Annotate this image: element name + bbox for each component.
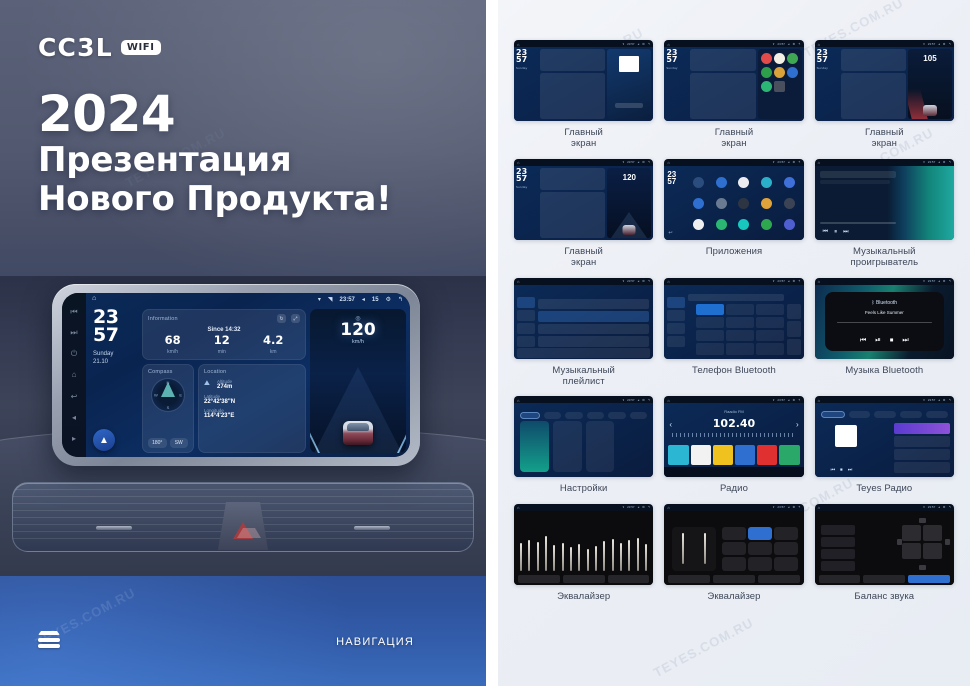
option-item[interactable] (821, 549, 855, 559)
volume-icon: ◂ (638, 279, 640, 283)
app-icon[interactable] (761, 67, 772, 78)
key-5[interactable] (726, 317, 754, 329)
playback-controls[interactable]: ⏮⏹⏭ (831, 467, 853, 473)
gallery-item[interactable]: ⏮⏸⏭ ⌂ ▾23:57◂⚙↰ Музыкальныйпроигрыватель (815, 159, 954, 269)
back-arrow-icon: ↰ (948, 279, 951, 283)
bt-label: Bluetooth (876, 300, 897, 306)
home-icon[interactable]: ⌂ (92, 295, 96, 302)
status-time: 23:57 (627, 279, 635, 283)
eq-tab[interactable] (713, 575, 755, 583)
gear-icon: ⚙ (792, 42, 795, 46)
gallery-item[interactable]: ⌂ ▾23:57◂⚙↰ Настройки (514, 396, 653, 494)
status-time: 23:57 (928, 279, 936, 283)
next-track-button[interactable]: ⏭ (70, 328, 79, 337)
gear-icon: ⚙ (943, 42, 946, 46)
expand-icon[interactable]: ⤢ (291, 314, 300, 323)
phone-actions[interactable] (787, 304, 801, 355)
thumbnail-caption: Музыка Bluetooth (845, 365, 923, 376)
stat-value: 4.2 (263, 335, 283, 347)
thumbnail-bt-phone[interactable]: ⌂ ▾23:57◂⚙↰ (664, 278, 803, 359)
key-4[interactable] (696, 317, 724, 329)
app-icon[interactable] (693, 198, 704, 209)
dial-pad[interactable] (696, 304, 783, 355)
back-arrow-icon: ↰ (648, 505, 651, 509)
eq-slider[interactable] (637, 538, 639, 571)
sidebar-item[interactable] (667, 336, 685, 347)
app-icon[interactable] (738, 219, 749, 230)
phone-number-field[interactable] (688, 294, 783, 301)
app-icon[interactable] (761, 177, 772, 188)
volume-down-button[interactable]: ◂ (70, 413, 79, 422)
tab-sound[interactable] (544, 412, 562, 419)
preset-button[interactable] (774, 542, 798, 555)
settings-cards[interactable] (520, 421, 647, 472)
equalizer-toolbar[interactable] (668, 575, 799, 583)
tab-system[interactable] (630, 412, 648, 419)
home-button[interactable]: ⌂ (70, 370, 79, 379)
app-icon[interactable] (761, 219, 772, 230)
app-icon[interactable] (716, 219, 727, 230)
app-icon[interactable] (784, 219, 795, 230)
back-arrow-icon[interactable]: ↰ (398, 296, 403, 303)
list-item[interactable] (894, 423, 950, 434)
gear-icon: ⚙ (642, 42, 645, 46)
thumbnail-home-speed[interactable]: 2357Sunday 105 ⌂ ▾23:57◂⚙↰ (815, 40, 954, 121)
navigation-arrow-icon[interactable]: ▲ (93, 429, 115, 451)
caption-line-1: Баланс звука (854, 591, 914, 602)
balance-toolbar[interactable] (819, 575, 950, 583)
station-presets[interactable] (668, 445, 799, 465)
wifi-icon: ▾ (923, 398, 925, 402)
key-hash[interactable] (756, 343, 784, 355)
tab-item[interactable] (849, 411, 871, 418)
app-icon[interactable] (787, 67, 798, 78)
eq-slider[interactable] (520, 543, 522, 570)
gallery-item[interactable]: ᛒ Bluetooth Feels Like Summer ⏮⏯⏹⏭ ⌂ ▾23… (815, 278, 954, 388)
previous-icon[interactable]: ⏮ (823, 229, 828, 236)
sidebar-item[interactable] (517, 323, 535, 334)
gear-icon: ⚙ (642, 505, 645, 509)
progress-bar[interactable] (837, 322, 932, 324)
fader-group[interactable] (672, 527, 716, 571)
gallery-item[interactable]: ⏮⏹⏭ ⌂ ▾23:57◂⚙↰ Teyes Радио (815, 396, 954, 494)
eq-tab[interactable] (819, 575, 861, 583)
equalizer-sliders[interactable] (520, 527, 647, 571)
thumbnail-playlist[interactable]: ⌂ ▾23:57◂⚙↰ (514, 278, 653, 359)
preset-button[interactable] (774, 557, 798, 570)
preset-station[interactable] (779, 445, 799, 465)
gallery-item[interactable]: 2357Sunday 120 ⌂ ▾23:57◂⚙↰ (514, 159, 653, 269)
key-2[interactable] (726, 304, 754, 316)
eq-tab[interactable] (563, 575, 605, 583)
next-icon[interactable]: ⏭ (848, 467, 853, 473)
eq-slider[interactable] (578, 544, 580, 570)
preset-button[interactable] (748, 557, 772, 570)
status-time: 23:57 (627, 160, 635, 164)
balance-right-button[interactable] (945, 539, 950, 545)
seat-front-left[interactable] (902, 525, 921, 541)
tab-item[interactable] (874, 411, 896, 418)
thumb-status-bar: ▾23:57◂⚙↰ (664, 504, 803, 511)
key-3[interactable] (756, 304, 784, 316)
eq-slider[interactable] (645, 544, 647, 571)
stop-icon[interactable]: ⏹ (890, 337, 894, 345)
radio-band: Raadio FM (664, 409, 803, 414)
eq-slider[interactable] (528, 540, 530, 571)
key-9[interactable] (756, 330, 784, 342)
gear-icon: ⚙ (792, 160, 795, 164)
thumbnail-home-hud[interactable]: 2357Sunday 120 ⌂ ▾23:57◂⚙↰ (514, 159, 653, 240)
thumbnail-home-apps[interactable]: 2357Sunday (664, 40, 803, 121)
headline-line-1: Презентация (38, 141, 391, 180)
balance-up-button[interactable] (919, 518, 926, 523)
thumbnail-teyes-radio[interactable]: ⏮⏹⏭ ⌂ ▾23:57◂⚙↰ (815, 396, 954, 477)
option-item[interactable] (821, 561, 855, 571)
wifi-icon: ▾ (623, 398, 625, 402)
eq-tab[interactable] (668, 575, 710, 583)
status-time: 23:57 (928, 398, 936, 402)
speed-value: 120 (607, 173, 651, 182)
hazard-button[interactable] (218, 502, 268, 550)
balance-options[interactable] (821, 525, 855, 571)
tab-item[interactable] (821, 411, 845, 418)
thumbnail-music-player[interactable]: ⏮⏸⏭ ⌂ ▾23:57◂⚙↰ (815, 159, 954, 240)
media-controls[interactable] (615, 103, 643, 108)
gallery-item[interactable]: 2357Sunday ⌂ ▾23:57◂⚙↰ Главныйэкран (514, 40, 653, 150)
thumbnail-radio[interactable]: Raadio FM 102.40 ‹ › (664, 396, 803, 477)
altitude-label: Altitude (217, 379, 232, 384)
balance-left-button[interactable] (897, 539, 902, 545)
settings-tabs[interactable] (520, 412, 647, 419)
thumbnail-caption: Баланс звука (854, 591, 914, 602)
option-item[interactable] (821, 537, 855, 547)
thumbnail-bt-music[interactable]: ᛒ Bluetooth Feels Like Summer ⏮⏯⏹⏭ ⌂ ▾23… (815, 278, 954, 359)
app-icon[interactable] (761, 81, 772, 92)
wifi-icon: ▾ (923, 160, 925, 164)
sidebar-item[interactable] (667, 297, 685, 308)
thumb-media-card (607, 49, 651, 119)
panel-divider (486, 0, 498, 686)
eq-tab[interactable] (608, 575, 650, 583)
back-button[interactable]: ↩ (70, 392, 79, 401)
tab-apps[interactable] (587, 412, 605, 419)
caption-line-1: Эквалайзер (557, 591, 610, 602)
gallery-item[interactable]: ⌂ ▾23:57◂⚙↰ Эквалайзер (514, 504, 653, 602)
sidebar-item[interactable] (517, 310, 535, 321)
key-star[interactable] (696, 343, 724, 355)
altitude-value: 274m (217, 384, 232, 390)
teyes-tabs[interactable] (821, 411, 948, 418)
eq-slider[interactable] (587, 549, 589, 571)
sidebar-item[interactable] (667, 310, 685, 321)
eq-slider[interactable] (603, 541, 605, 571)
thumbnail-equalizer-bars[interactable]: ⌂ ▾23:57◂⚙↰ (514, 504, 653, 585)
gallery-item[interactable]: ⌂ ▾23:57◂⚙↰ Музыкальныйплейлист (514, 278, 653, 388)
eq-slider[interactable] (570, 547, 572, 571)
empty-card (618, 421, 647, 472)
app-icon[interactable] (716, 177, 727, 188)
speed-value: 120 (310, 322, 406, 339)
back-arrow-icon: ↰ (798, 42, 801, 46)
sidebar-item[interactable] (517, 297, 535, 308)
fader-slider[interactable] (704, 533, 706, 564)
volume-icon: ◂ (788, 398, 790, 402)
compass-widget[interactable]: Compass N S W E (142, 364, 194, 454)
prev-station-button[interactable]: ‹ (669, 420, 672, 429)
watermark: TEYES.COM.RU (651, 615, 756, 680)
sidebar-item[interactable] (667, 323, 685, 334)
wifi-icon: ▾ (923, 279, 925, 283)
hardware-button-rail[interactable]: ⏮ ⏭ ⏻ ⌂ ↩ ◂ ▸ (62, 293, 86, 457)
status-time: 23:57 (777, 42, 785, 46)
compass-west: W (154, 392, 158, 397)
thumb-status-bar: ▾23:57◂⚙↰ (815, 504, 954, 511)
eq-tab[interactable] (863, 575, 905, 583)
thumb-status-bar: ▾23:57◂⚙↰ (664, 278, 803, 285)
eq-tab[interactable] (518, 575, 560, 583)
playback-controls[interactable]: ⏮⏸⏭ (823, 229, 849, 236)
wifi-icon: ▾ (623, 42, 625, 46)
gallery-item[interactable]: ⌂ ▾23:57◂⚙↰ Эквалайзер (664, 504, 803, 602)
preset-station[interactable] (757, 445, 777, 465)
gear-icon: ⚙ (642, 398, 645, 402)
list-item[interactable] (538, 311, 649, 322)
thumb-compass-card (540, 192, 605, 238)
phone-sidebar[interactable] (667, 297, 685, 347)
option-item[interactable] (821, 525, 855, 535)
thumb-status-bar: ▾23:57◂⚙↰ (664, 159, 803, 166)
app-icon[interactable] (693, 177, 704, 188)
car-model-3d (923, 105, 937, 116)
gear-icon: ⚙ (943, 160, 946, 164)
widgets-row-2: Compass N S W E (142, 364, 306, 454)
tab-display[interactable] (565, 412, 583, 419)
previous-icon[interactable]: ⏮ (860, 337, 866, 345)
thumb-status-bar: ▾23:57◂⚙↰ (815, 278, 954, 285)
gallery-item[interactable]: 2357 (664, 159, 803, 269)
list-item[interactable] (894, 462, 950, 473)
thumbnail-home-media[interactable]: 2357Sunday ⌂ ▾23:57◂⚙↰ (514, 40, 653, 121)
app-icon[interactable] (738, 177, 749, 188)
preset-station[interactable] (713, 445, 733, 465)
seat-rear-left[interactable] (902, 543, 921, 559)
eq-slider[interactable] (612, 539, 614, 571)
album-art (835, 425, 857, 447)
thumb-status-bar: ▾23:57◂⚙↰ (664, 40, 803, 47)
volume-icon: ◂ (638, 160, 640, 164)
head-unit-screen[interactable]: ⌂ ▾ ◥ 23:57 ◂ 15 ⚙ ↰ 23 (86, 293, 410, 457)
gallery-item[interactable]: ⌂ ▾23:57◂⚙↰ Телефон Bluetooth (664, 278, 803, 388)
progress-bar[interactable] (820, 222, 896, 224)
hud-panel[interactable]: ◎ 120 km/h (310, 309, 406, 453)
preset-button[interactable] (774, 527, 798, 540)
bluetooth-icon: ᛒ Bluetooth (825, 300, 944, 306)
balance-down-button[interactable] (919, 565, 926, 570)
key-0[interactable] (726, 343, 754, 355)
preset-station[interactable] (735, 445, 755, 465)
tab-item[interactable] (926, 411, 948, 418)
back-arrow-icon: ↰ (948, 42, 951, 46)
eq-slider[interactable] (595, 546, 597, 571)
app-icon[interactable] (774, 81, 785, 92)
prev-track-button[interactable]: ⏮ (70, 307, 79, 316)
air-vent-left (96, 526, 132, 530)
back-arrow-icon: ↰ (648, 42, 651, 46)
key-8[interactable] (726, 330, 754, 342)
power-button[interactable]: ⏻ (70, 349, 79, 358)
key-6[interactable] (756, 317, 784, 329)
thumb-compass-card (540, 73, 605, 119)
app-icon[interactable] (716, 198, 727, 209)
app-icon[interactable] (774, 53, 785, 64)
volume-icon: ◂ (638, 398, 640, 402)
gallery-item[interactable]: 2357Sunday (664, 40, 803, 150)
volume-icon[interactable]: ◂ (362, 296, 365, 303)
longitude-value: 114°4'23"E (204, 413, 300, 419)
music-player-screen: ⏮⏸⏭ (815, 166, 954, 240)
key-7[interactable] (696, 330, 724, 342)
playlist-screen (514, 285, 653, 359)
clock-minutes: 57 (90, 327, 138, 345)
wifi-card[interactable] (520, 421, 549, 472)
seat-rear-right[interactable] (923, 543, 942, 559)
sidebar-item[interactable] (517, 336, 535, 347)
playlist-rows[interactable] (538, 299, 649, 347)
eq-slider[interactable] (545, 536, 547, 570)
stop-icon[interactable]: ⏹ (840, 467, 843, 473)
preset-station[interactable] (691, 445, 711, 465)
caption-line-1: Радио (720, 483, 748, 494)
backspace-icon[interactable] (787, 321, 801, 337)
clock-day: Sunday (90, 350, 138, 358)
compass-heading: 180° (148, 438, 167, 448)
app-icon[interactable] (693, 219, 704, 230)
status-time: 23:57 (777, 505, 785, 509)
eq-slider[interactable] (537, 542, 539, 571)
preset-station[interactable] (668, 445, 688, 465)
app-icon[interactable] (784, 177, 795, 188)
tab-item[interactable] (900, 411, 922, 418)
back-arrow-icon[interactable]: ↩ (668, 230, 672, 236)
preset-button[interactable] (722, 542, 746, 555)
preset-button-active[interactable] (748, 527, 772, 540)
hotspot-card[interactable] (553, 421, 582, 472)
track-title (820, 171, 896, 178)
eq-slider[interactable] (562, 543, 564, 571)
teyes-track-list[interactable] (894, 423, 950, 473)
speed-unit: km/h (310, 339, 406, 345)
air-vent-right (354, 526, 390, 530)
equalizer-toolbar[interactable] (518, 575, 649, 583)
mini-player-bar[interactable] (517, 348, 650, 358)
app-icon[interactable] (787, 53, 798, 64)
next-icon[interactable]: ⏭ (902, 337, 908, 345)
wifi-icon: ▾ (773, 398, 775, 402)
favorite-icon[interactable] (787, 304, 801, 320)
volume-icon: ◂ (788, 505, 790, 509)
app-icon[interactable] (761, 198, 772, 209)
app-icon[interactable] (774, 67, 785, 78)
app-icon[interactable] (761, 53, 772, 64)
eq-slider[interactable] (553, 545, 555, 571)
seat-front-right[interactable] (923, 525, 942, 541)
apps-screen: 2357 (664, 166, 803, 240)
wifi-icon: ▾ (623, 160, 625, 164)
playback-controls[interactable]: ⏮⏯⏹⏭ (825, 337, 944, 345)
tab-wifi[interactable] (520, 412, 540, 419)
gear-icon[interactable]: ⚙ (386, 296, 391, 303)
settings-screen (514, 403, 653, 477)
widgets-column: Information ↻ ⤢ Since 14:32 (142, 309, 306, 453)
preset-button[interactable] (748, 542, 772, 555)
frequency-scale[interactable] (672, 433, 795, 437)
pause-icon[interactable]: ⏸ (834, 229, 837, 236)
volume-icon: ◂ (938, 505, 940, 509)
list-item[interactable] (538, 299, 649, 310)
status-time: 23:57 (928, 160, 936, 164)
refresh-icon[interactable]: ↻ (277, 314, 286, 323)
thumbnail-apps[interactable]: 2357 (664, 159, 803, 240)
compass-south: S (167, 405, 170, 410)
gallery-item[interactable]: ⌂ ▾23:57◂⚙↰ Баланс звука (815, 504, 954, 602)
list-item[interactable] (538, 324, 649, 335)
next-station-button[interactable]: › (796, 420, 799, 429)
previous-icon[interactable]: ⏮ (831, 467, 836, 473)
tab-general[interactable] (608, 412, 626, 419)
preset-grid[interactable] (722, 527, 797, 571)
app-icon[interactable] (738, 198, 749, 209)
eq-slider[interactable] (620, 543, 622, 571)
information-widget[interactable]: Information ↻ ⤢ Since 14:32 (142, 309, 306, 360)
thumb-status-bar: ▾23:57◂⚙↰ (664, 396, 803, 403)
list-item[interactable] (894, 436, 950, 447)
gear-icon: ⚙ (792, 279, 795, 283)
next-icon[interactable]: ⏭ (843, 229, 848, 236)
preset-button[interactable] (722, 527, 746, 540)
compass-dial: N S W E (151, 378, 185, 412)
status-time: 23:57 (777, 398, 785, 402)
eq-tab[interactable] (758, 575, 800, 583)
caption-line-1: Главный (865, 127, 904, 138)
list-item[interactable] (894, 449, 950, 460)
preset-button[interactable] (722, 557, 746, 570)
play-pause-icon[interactable]: ⏯ (875, 337, 881, 345)
thumb-info-card (540, 49, 605, 71)
screenshot-gallery: TEYES.COM.RU TEYES.COM.RU TEYES.COM.RU T… (498, 0, 970, 686)
more-card[interactable] (586, 421, 615, 472)
call-icon[interactable] (787, 339, 801, 355)
gallery-item[interactable]: 2357Sunday 105 ⌂ ▾23:57◂⚙↰ (815, 40, 954, 150)
eq-slider[interactable] (628, 540, 630, 570)
list-item[interactable] (538, 336, 649, 347)
fader-slider[interactable] (682, 533, 684, 564)
caption-line-2: экран (872, 138, 897, 149)
thumbnail-equalizer-presets[interactable]: ⌂ ▾23:57◂⚙↰ (664, 504, 803, 585)
thumbnail-sound-balance[interactable]: ⌂ ▾23:57◂⚙↰ (815, 504, 954, 585)
caption-line-1: Teyes Радио (856, 483, 912, 494)
app-icon[interactable] (784, 198, 795, 209)
thumbnail-settings[interactable]: ⌂ ▾23:57◂⚙↰ (514, 396, 653, 477)
balance-pad[interactable] (902, 525, 942, 559)
key-1[interactable] (696, 304, 724, 316)
eq-tab-active[interactable] (908, 575, 950, 583)
playlist-sidebar[interactable] (517, 297, 535, 347)
gallery-item[interactable]: Raadio FM 102.40 ‹ › (664, 396, 803, 494)
location-widget[interactable]: Location ⛰ Altitude 274m (198, 364, 306, 454)
radio-toolbar[interactable] (664, 467, 803, 477)
caption-line-2: экран (571, 257, 596, 268)
volume-up-button[interactable]: ▸ (70, 434, 79, 443)
